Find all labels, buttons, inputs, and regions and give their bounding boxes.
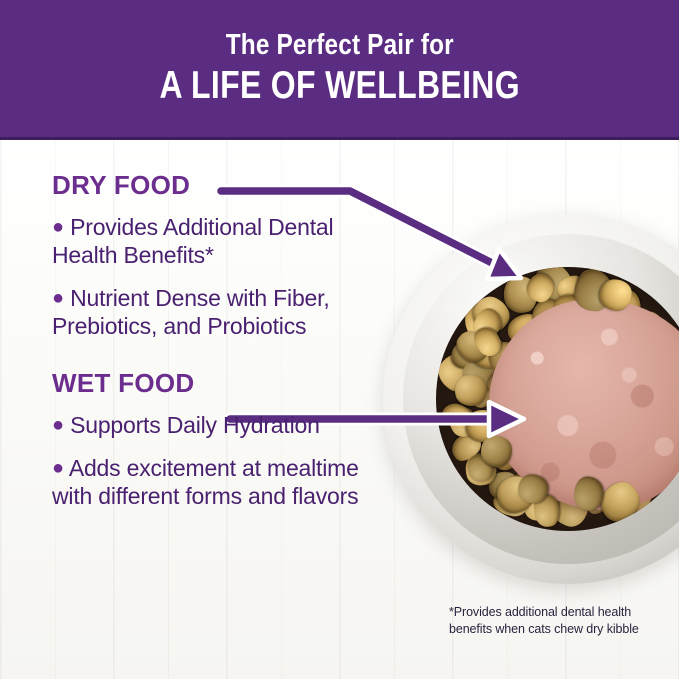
- list-item-label: Supports Daily Hydration: [70, 412, 320, 438]
- header-banner: The Perfect Pair for A LIFE OF WELLBEING: [0, 0, 679, 140]
- list-item: ● Provides Additional Dental Health Bene…: [52, 213, 382, 269]
- list-item: ● Nutrient Dense with Fiber, Prebiotics,…: [52, 284, 382, 340]
- bowl-contents: [436, 267, 679, 530]
- bullet-dot-icon: ●: [52, 216, 64, 238]
- section-heading-dry-food: DRY FOOD: [52, 172, 382, 198]
- footnote-line-1: *Provides additional dental health: [449, 604, 677, 621]
- list-item-label: Nutrient Dense with Fiber, Prebiotics, a…: [52, 285, 330, 339]
- wet-food-bullet-list: ● Supports Daily Hydration ● Adds excite…: [52, 411, 382, 510]
- bowl-outer-rim: [383, 214, 679, 584]
- benefits-column: DRY FOOD ● Provides Additional Dental He…: [52, 172, 382, 510]
- banner-headline-line2: A LIFE OF WELLBEING: [159, 66, 519, 107]
- bullet-dot-icon: ●: [52, 287, 64, 309]
- banner-headline-line1: The Perfect Pair for: [225, 30, 453, 62]
- list-item: ● Adds excitement at mealtime with diffe…: [52, 454, 382, 510]
- dry-food-bullet-list: ● Provides Additional Dental Health Bene…: [52, 213, 382, 340]
- footnote-line-2: benefits when cats chew dry kibble: [449, 621, 677, 638]
- footnote-disclaimer: *Provides additional dental health benef…: [449, 604, 677, 638]
- cat-food-bowl-photo: [383, 214, 679, 584]
- dry-kibble-foreground: [436, 267, 679, 530]
- list-item: ● Supports Daily Hydration: [52, 411, 382, 439]
- list-item-label: Adds excitement at mealtime with differe…: [52, 455, 359, 509]
- bullet-dot-icon: ●: [52, 414, 64, 436]
- section-heading-wet-food: WET FOOD: [52, 370, 382, 396]
- bowl-inner-rim: [403, 234, 679, 563]
- bullet-dot-icon: ●: [52, 457, 64, 479]
- promotional-infographic: The Perfect Pair for A LIFE OF WELLBEING: [0, 0, 679, 679]
- list-item-label: Provides Additional Dental Health Benefi…: [52, 214, 333, 268]
